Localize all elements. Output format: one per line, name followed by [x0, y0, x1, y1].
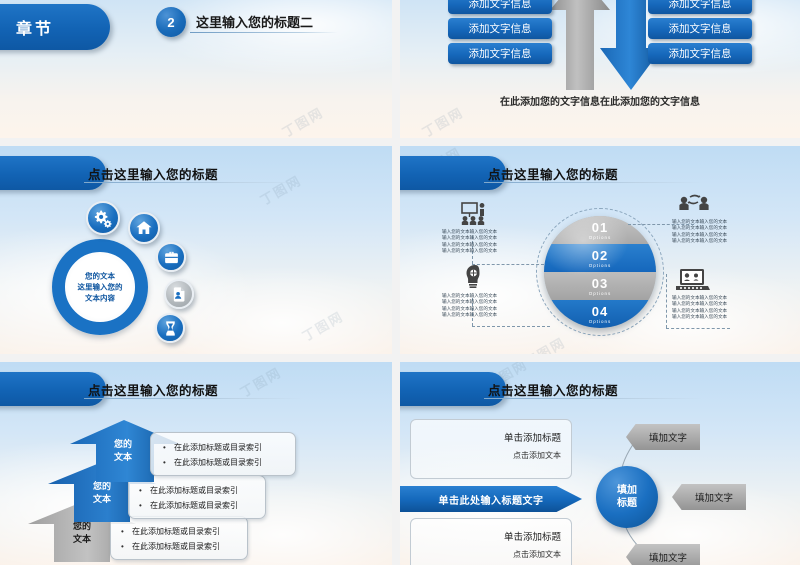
card-sub: 点击添加文本: [513, 450, 561, 461]
connector-left-bottom: [472, 326, 550, 327]
tag-right-1[interactable]: 添加文字信息: [648, 0, 752, 14]
slide-3-title: 点击这里输入您的标题: [88, 164, 218, 183]
info-block-team[interactable]: 输入您的文本输入您的文本 输入您的文本输入您的文本 输入您的文本输入您的文本 输…: [672, 194, 768, 245]
list-item: 在此添加标题或目录索引: [139, 483, 265, 498]
arrow-label-1: 您的 文本: [95, 438, 151, 464]
title-underline: [84, 398, 302, 399]
step-number-badge: 2: [156, 7, 186, 37]
info-text: 输入您的文本输入您的文本 输入您的文本输入您的文本 输入您的文本输入您的文本 输…: [672, 219, 768, 245]
info-text: 输入您的文本输入您的文本 输入您的文本输入您的文本 输入您的文本输入您的文本 输…: [672, 295, 768, 321]
slide-6-title: 点击这里输入您的标题: [488, 380, 618, 399]
list-item: 在此添加标题或目录索引: [163, 455, 295, 470]
slide-5-stacked-arrows[interactable]: 丁图网 点击这里输入您的标题 在此添加标题或目录索引 在此添加标题或目录索引 您…: [0, 362, 392, 565]
title-underline: [190, 32, 338, 33]
slide-6-hub-and-chips[interactable]: 丁图网 点击这里输入您的标题 单击添加标题 点击添加文本 单击添加标题 点击添加…: [400, 362, 800, 565]
section-pill-label: 章节: [16, 15, 54, 39]
training-presentation-icon: [460, 202, 494, 226]
slide-1-section-cover[interactable]: 丁图网 章节 2 这里输入您的标题二: [0, 0, 392, 138]
watermark: 丁图网: [256, 170, 304, 209]
card-top[interactable]: 单击添加标题 点击添加文本: [410, 419, 572, 479]
laptop-conference-icon: [676, 268, 710, 292]
card-heading: 单击添加标题: [504, 529, 561, 543]
slide-1-title: 这里输入您的标题二: [196, 12, 313, 31]
banded-sphere[interactable]: 01 Options 02 Options 03 Options 04 Opti…: [544, 216, 656, 328]
card-bottom[interactable]: 单击添加标题 点击添加文本: [410, 518, 572, 565]
tag-right-3[interactable]: 添加文字信息: [648, 43, 752, 64]
info-text: 输入您的文本输入您的文本 输入您的文本输入您的文本 输入您的文本输入您的文本 输…: [442, 293, 538, 319]
document-user-icon[interactable]: [164, 279, 194, 309]
watermark: 丁图网: [278, 102, 326, 138]
tag-left-2[interactable]: 添加文字信息: [448, 18, 552, 39]
center-ring-text: 您的文本 这里输入您的 文本内容: [57, 271, 143, 304]
watermark: 丁图网: [236, 362, 284, 401]
list-item: 在此添加标题或目录索引: [163, 440, 295, 455]
connector-right-bottom-v: [666, 274, 667, 328]
gears-icon[interactable]: [86, 201, 120, 235]
slide-4-banded-sphere[interactable]: 丁图网 丁图网 点击这里输入您的标题 01 Options 02 Options…: [400, 146, 800, 354]
head-idea-icon: [464, 264, 486, 290]
arrow-label-3: 您的 文本: [54, 520, 110, 546]
info-block-idea[interactable]: 输入您的文本输入您的文本 输入您的文本输入您的文本 输入您的文本输入您的文本 输…: [442, 264, 538, 319]
info-block-conference[interactable]: 输入您的文本输入您的文本 输入您的文本输入您的文本 输入您的文本输入您的文本 输…: [672, 268, 768, 321]
slide-4-title: 点击这里输入您的标题: [488, 164, 618, 183]
list-item: 在此添加标题或目录索引: [121, 524, 247, 539]
chip-2[interactable]: 填加文字: [672, 484, 746, 510]
slide-contact-sheet: 丁图网 章节 2 这里输入您的标题二 丁图网: [0, 0, 800, 565]
arrow-label-2: 您的 文本: [74, 480, 130, 506]
watermark: 丁图网: [298, 306, 346, 345]
tag-right-2[interactable]: 添加文字信息: [648, 18, 752, 39]
title-underline: [84, 182, 302, 183]
card-sub: 点击添加文本: [513, 549, 561, 560]
chip-1[interactable]: 填加文字: [626, 424, 700, 450]
team-exchange-icon: [678, 194, 712, 216]
info-text: 输入您的文本输入您的文本 输入您的文本输入您的文本 输入您的文本输入您的文本 输…: [442, 229, 538, 255]
list-box-1[interactable]: 在此添加标题或目录索引 在此添加标题或目录索引: [150, 432, 296, 476]
home-icon[interactable]: [128, 212, 160, 244]
briefcase-icon[interactable]: [156, 242, 186, 272]
connector-right-bottom: [666, 328, 730, 329]
section-pill[interactable]: 章节: [0, 4, 110, 50]
watermark: 丁图网: [520, 332, 568, 354]
center-ring[interactable]: 您的文本 这里输入您的 文本内容: [52, 239, 148, 335]
tag-left-1[interactable]: 添加文字信息: [448, 0, 552, 14]
sphere-gloss: [544, 216, 656, 328]
tag-left-3[interactable]: 添加文字信息: [448, 43, 552, 64]
title-underline: [484, 398, 702, 399]
hub-circle[interactable]: 填加 标题: [596, 466, 658, 528]
slide-5-title: 点击这里输入您的标题: [88, 380, 218, 399]
banner-arrow[interactable]: 单击此处输入标题文字: [400, 486, 582, 512]
list-item: 在此添加标题或目录索引: [139, 498, 265, 513]
slide-2-caption: 在此添加您的文字信息在此添加您的文字信息: [400, 93, 800, 108]
slide-2-converging-arrows[interactable]: 丁图网 添加文字信息 添加文字信息 添加文字信息 添加文字信息 添加文字: [400, 0, 800, 138]
list-box-3[interactable]: 在此添加标题或目录索引 在此添加标题或目录索引: [110, 516, 248, 560]
card-heading: 单击添加标题: [504, 430, 561, 444]
hourglass-icon[interactable]: [155, 313, 185, 343]
title-underline: [484, 182, 702, 183]
info-block-training[interactable]: 输入您的文本输入您的文本 输入您的文本输入您的文本 输入您的文本输入您的文本 输…: [442, 202, 538, 255]
slide-3-icon-ring[interactable]: 丁图网 丁图网 点击这里输入您的标题 您的文本 这里输入您的 文本内容: [0, 146, 392, 354]
list-item: 在此添加标题或目录索引: [121, 539, 247, 554]
chip-3[interactable]: 填加文字: [626, 544, 700, 565]
